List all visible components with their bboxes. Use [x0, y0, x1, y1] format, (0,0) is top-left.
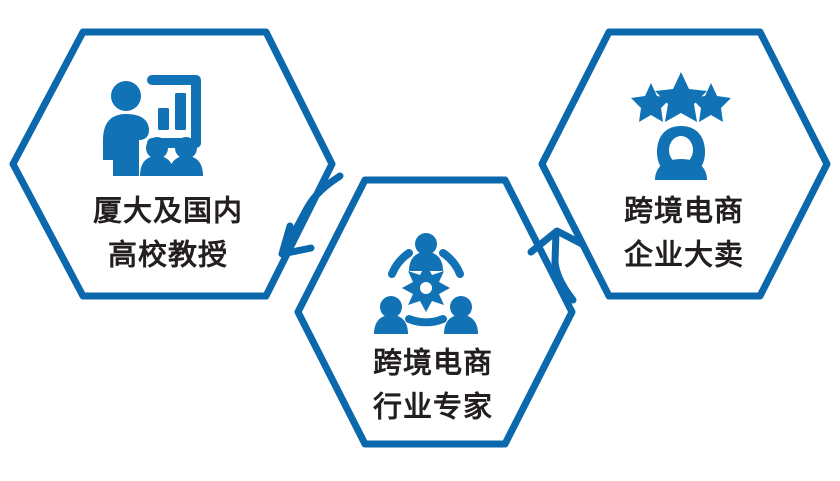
diagram-canvas: 厦大及国内 高校教授: [0, 0, 840, 481]
node-label-academia-line2: 高校教授: [108, 238, 228, 272]
node-label-academia-line1: 厦大及国内: [93, 195, 243, 228]
node-label-industry-experts-line1: 跨境电商: [373, 347, 493, 380]
process-diagram: 厦大及国内 高校教授: [0, 0, 840, 481]
node-label-top-sellers-line1: 跨境电商: [624, 195, 744, 228]
node-label-industry-experts-line2: 行业专家: [372, 390, 493, 424]
node-industry-experts[interactable]: 跨境电商 行业专家: [298, 180, 572, 444]
node-top-sellers[interactable]: 跨境电商 企业大卖: [542, 32, 827, 296]
node-label-top-sellers-line2: 企业大卖: [624, 238, 744, 272]
